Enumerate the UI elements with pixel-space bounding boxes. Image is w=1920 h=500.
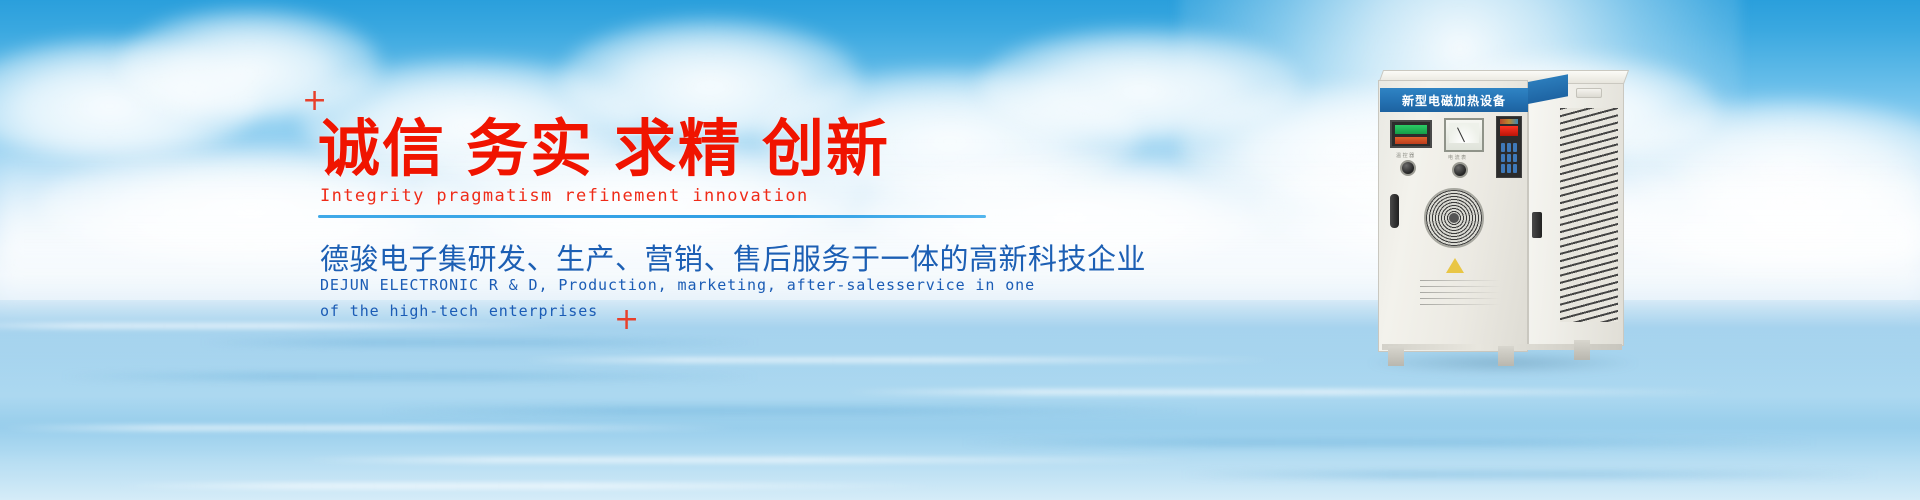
temperature-controller-display <box>1390 120 1432 148</box>
description-en-line-2: of the high-tech enterprises <box>320 302 598 320</box>
headline-word-2: 务实 <box>466 112 594 185</box>
power-knob <box>1400 160 1416 176</box>
product-image-heating-machine: 新型电磁加热设备 温 控 器 电 流 表 <box>1378 62 1638 372</box>
display-caption: 温 控 器 <box>1396 152 1414 159</box>
headline-word-4: 创新 <box>762 112 890 185</box>
machine-foot <box>1388 346 1404 366</box>
divider-line <box>318 215 986 218</box>
keypad-buttons <box>1501 143 1517 173</box>
page-title: 诚信务实求精创新 <box>318 118 890 180</box>
description-cn: 德骏电子集研发、生产、营销、售后服务于一体的高新科技企业 <box>320 236 1146 278</box>
machine-label: 新型电磁加热设备 <box>1380 88 1528 112</box>
decor-plus-icon-bottom: + <box>614 305 639 335</box>
analog-ammeter-gauge <box>1444 118 1484 152</box>
copy-block: + 诚信务实求精创新 Integrity pragmatism refineme… <box>0 0 1100 500</box>
warning-triangle-icon <box>1446 258 1464 273</box>
control-keypad <box>1496 116 1522 178</box>
description-en-line-1: DEJUN ELECTRONIC R & D, Production, mark… <box>320 276 1035 294</box>
keypad-color-strip <box>1500 119 1518 124</box>
spec-label-plate <box>1420 280 1500 310</box>
ventilation-slots <box>1560 108 1618 322</box>
side-handle-tab <box>1576 88 1602 98</box>
machine-foot <box>1574 340 1590 360</box>
adjust-knob <box>1452 162 1468 178</box>
fan-hub <box>1449 213 1459 223</box>
gauge-caption: 电 流 表 <box>1448 154 1466 161</box>
cooling-fan-grille <box>1424 188 1484 248</box>
machine-foot <box>1498 346 1514 366</box>
headline-word-1: 诚信 <box>318 112 446 185</box>
keypad-led-display <box>1500 126 1518 136</box>
side-lock-icon <box>1532 212 1542 238</box>
headline-subtitle-en: Integrity pragmatism refinement innovati… <box>320 186 809 206</box>
door-handle <box>1390 194 1399 228</box>
display-orange-segment <box>1395 137 1427 144</box>
promo-banner: + 诚信务实求精创新 Integrity pragmatism refineme… <box>0 0 1920 500</box>
headline-word-3: 求精 <box>614 112 742 185</box>
display-green-segment <box>1395 125 1427 134</box>
